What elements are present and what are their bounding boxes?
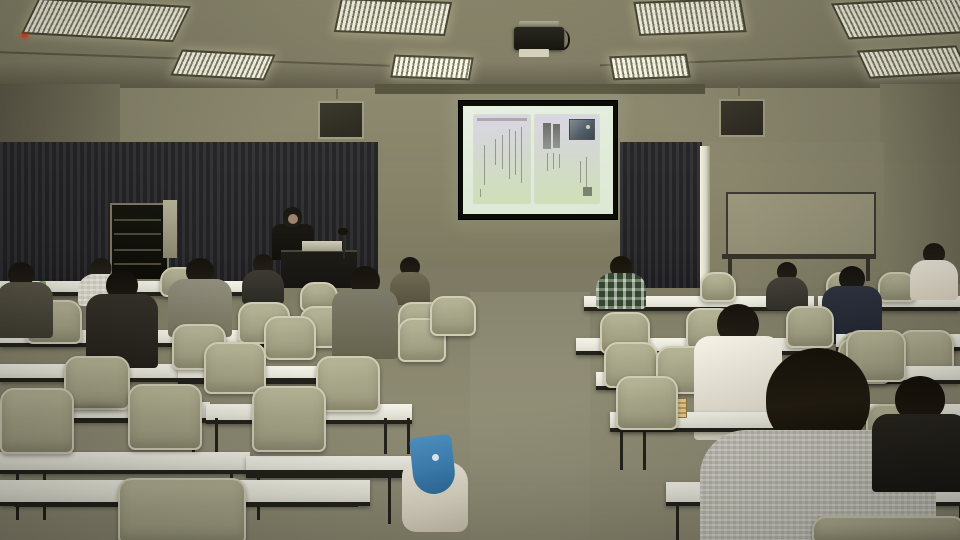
ceiling-light-panel-3 <box>334 0 452 36</box>
attendee-left-dark-far <box>242 254 284 302</box>
speaker-mount-rod-left <box>336 89 338 99</box>
chair-foreground <box>118 478 242 540</box>
slide-thumbnail-highlight <box>586 125 590 129</box>
chair <box>616 376 674 426</box>
wall-speaker-left <box>318 101 364 139</box>
backpack-logo <box>432 454 439 461</box>
chair <box>300 282 334 308</box>
presenter-face <box>288 214 298 224</box>
ceiling-light-panel-6 <box>609 54 691 81</box>
ceiling-light-panel-7 <box>831 0 960 39</box>
slide-title-glyphs <box>543 123 551 149</box>
microphone-head <box>338 228 348 235</box>
ceiling-light-panel-5 <box>633 0 746 36</box>
attendee-right-cream-far <box>910 243 958 299</box>
soffit-beam <box>375 84 705 94</box>
center-aisle <box>470 292 590 540</box>
attendee-left-grey <box>168 258 232 334</box>
chair <box>700 272 732 298</box>
microphone-stand <box>343 233 345 259</box>
backpack <box>398 436 468 532</box>
slide-header-band <box>477 118 527 121</box>
attendee-right-plaid <box>596 256 646 306</box>
chair <box>0 388 70 450</box>
slide-title-glyphs <box>553 124 560 148</box>
chair <box>204 342 262 390</box>
attendee-left-hood-grey <box>332 266 398 356</box>
chair <box>264 316 312 356</box>
chair <box>878 272 912 298</box>
attendee-right-dark-far <box>766 262 808 308</box>
wall-speaker-right <box>719 99 765 137</box>
av-rack-side-panel <box>163 200 177 258</box>
whiteboard <box>726 192 876 258</box>
screen-surface <box>463 106 613 214</box>
attendee-left-front <box>0 262 54 334</box>
whiteboard-tray <box>722 254 876 259</box>
projector-lens <box>519 49 549 57</box>
chair-foreground-right <box>812 516 960 540</box>
ceiling-light-panel-4 <box>390 55 474 81</box>
power-led-indicator <box>22 34 27 37</box>
chair <box>430 296 472 332</box>
slide-thumbnail-image <box>569 119 595 140</box>
slide-document-page-left <box>474 115 530 203</box>
attendee-right-dark-near <box>872 376 960 486</box>
chair <box>252 386 322 448</box>
projection-screen <box>458 100 618 220</box>
chair <box>786 306 830 344</box>
attendee-left-dark <box>86 270 158 366</box>
speaker-mount-rod-right <box>738 86 740 96</box>
ceiling-light-panel-8 <box>857 45 960 78</box>
projector-cable <box>556 30 570 50</box>
slide-book-cover-right <box>535 115 599 203</box>
slide-seal-mark <box>583 187 592 196</box>
lecture-room-photo <box>0 0 960 540</box>
chair <box>128 384 198 446</box>
ceiling-light-panel-2 <box>170 49 275 80</box>
lectern-top-surface <box>302 241 342 251</box>
